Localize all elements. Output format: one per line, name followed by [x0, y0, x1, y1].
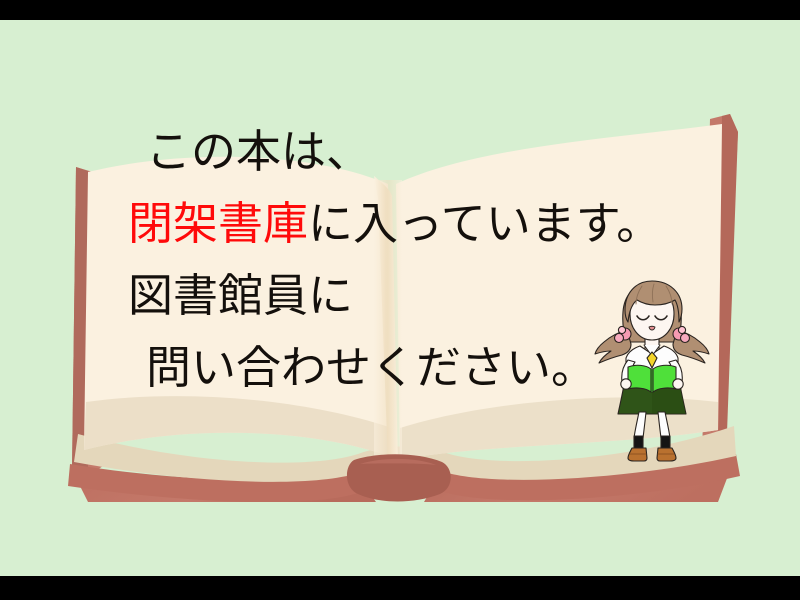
leg-left [634, 412, 646, 438]
mouth [649, 326, 655, 330]
girl-reading-illustration [592, 272, 712, 462]
leg-right [658, 412, 670, 438]
hand-left [621, 379, 631, 389]
held-book [628, 365, 676, 392]
letterbox-bottom [0, 576, 800, 600]
hand-right [673, 379, 683, 389]
book-gutter-shade [374, 180, 402, 464]
slide-canvas: この本は、 閉架書庫に入っています。 図書館員に 問い合わせください。 [0, 0, 800, 600]
letterbox-top [0, 0, 800, 20]
